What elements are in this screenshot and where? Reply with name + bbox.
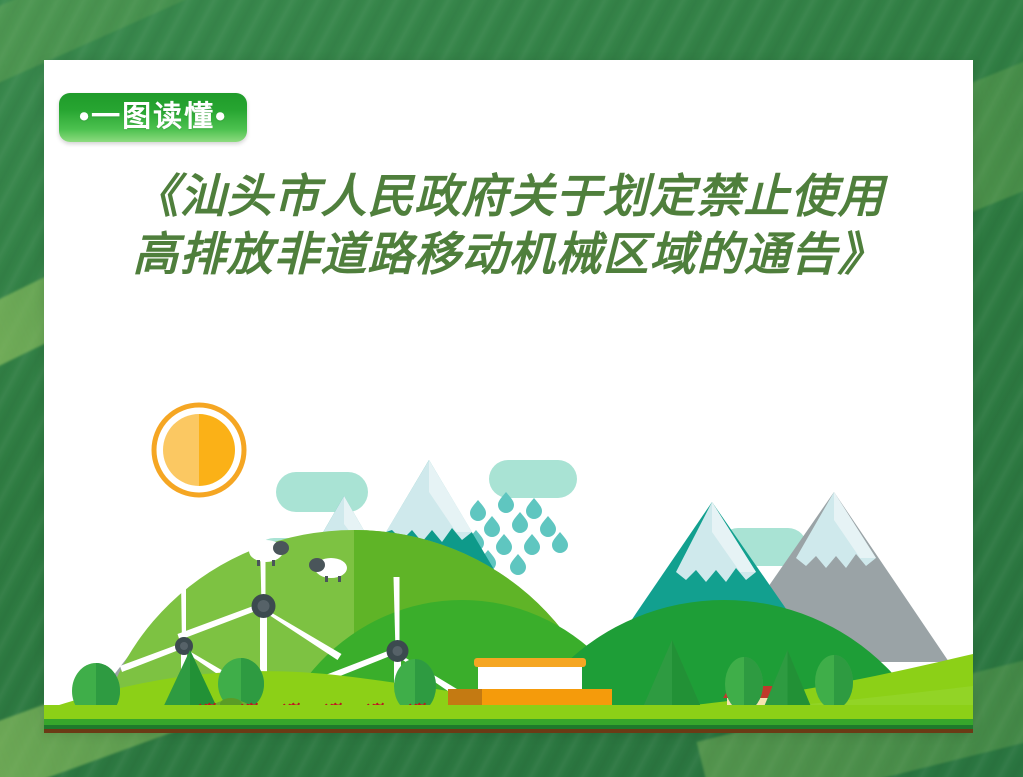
screenshot-root: •一图读懂• 《汕头市人民政府关于划定禁止使用 高排放非道路移动机械区域的通告》 xyxy=(0,0,1023,777)
page-title-line-1: 《汕头市人民政府关于划定禁止使用 xyxy=(72,168,945,226)
cloud-icon xyxy=(489,460,577,498)
infographic-badge: •一图读懂• xyxy=(59,93,247,142)
content-card: •一图读懂• 《汕头市人民政府关于划定禁止使用 高排放非道路移动机械区域的通告》 xyxy=(44,60,973,733)
ground-strips xyxy=(44,705,973,733)
landscape-svg xyxy=(44,310,973,733)
page-title: 《汕头市人民政府关于划定禁止使用 高排放非道路移动机械区域的通告》 xyxy=(44,168,973,285)
cloud-icon xyxy=(276,472,368,512)
page-title-line-2: 高排放非道路移动机械区域的通告》 xyxy=(72,226,945,284)
sun-icon xyxy=(154,405,244,495)
badge-label: •一图读懂• xyxy=(79,103,227,132)
eco-landscape-illustration xyxy=(44,310,973,733)
